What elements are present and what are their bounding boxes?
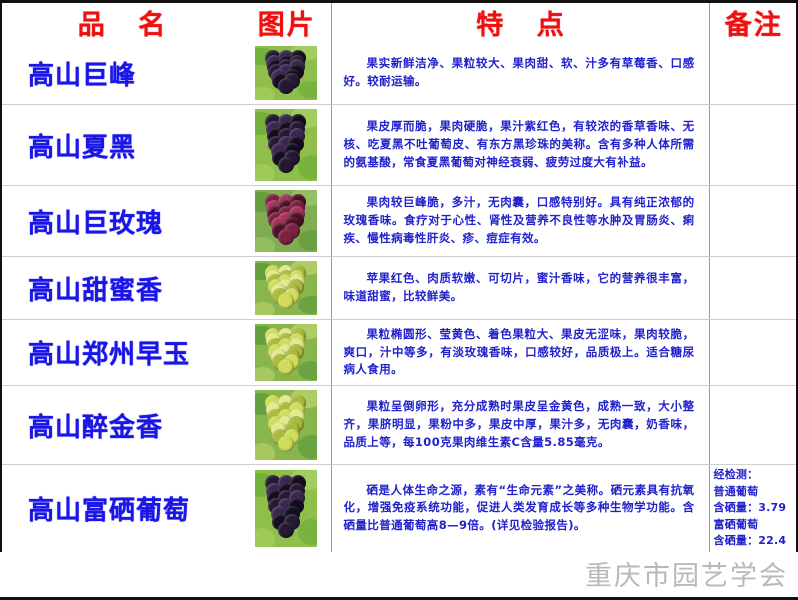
header-label-product-name: 品 名 [2, 3, 241, 42]
features-text: 果粒呈倒卵形，充分成熟时果皮呈金黄色，成熟一致，大小整齐，果脐明显，果粉中多，果… [332, 394, 709, 455]
catalog-sheet: 品 名 图片 特 点 备注 高山巨峰果实新鲜洁净、果粒较大、果肉甜、软、汁多有草… [0, 0, 798, 600]
cell-product-name: 高山甜蜜香 [1, 257, 241, 320]
header-cell-product-name: 品 名 [1, 3, 241, 42]
header-label-features: 特 点 [332, 3, 709, 42]
cell-features: 硒是人体生命之源，素有“生命元素”之美称。硒元素具有抗氧化，增强免疫系统功能，促… [331, 465, 709, 552]
cell-remarks [709, 386, 797, 465]
product-name-label: 高山巨玫瑰 [2, 203, 241, 240]
table-row: 高山巨玫瑰果肉较巨峰脆，多汁，无肉囊，口感特别好。具有纯正浓郁的玫瑰香味。食疗对… [1, 186, 797, 257]
cell-features: 果粒呈倒卵形，充分成熟时果皮呈金黄色，成熟一致，大小整齐，果脐明显，果粉中多，果… [331, 386, 709, 465]
remarks-text: 经检测： 普通葡萄 含硒量：3.79 富硒葡萄 含硒量：22.4 [710, 465, 797, 552]
features-text: 果实新鲜洁净、果粒较大、果肉甜、软、汁多有草莓香、口感好。较耐运输。 [332, 51, 709, 95]
remarks-text [710, 351, 797, 355]
header-label-remarks: 备注 [710, 3, 797, 42]
grape-image [255, 46, 317, 100]
cell-remarks [709, 257, 797, 320]
cell-features: 果粒椭圆形、莹黄色、着色果粒大、果皮无涩味，果肉较脆，爽口，汁中等多，有淡玫瑰香… [331, 320, 709, 386]
grape-image [255, 261, 317, 315]
cell-picture [241, 186, 331, 257]
table-row: 高山甜蜜香苹果红色、肉质软嫩、可切片，蜜汁香味，它的营养很丰富，味道甜蜜，比较鲜… [1, 257, 797, 320]
cell-product-name: 高山巨峰 [1, 42, 241, 105]
table-header-row: 品 名 图片 特 点 备注 [1, 3, 797, 42]
cell-picture [241, 105, 331, 186]
cell-remarks [709, 320, 797, 386]
cell-picture [241, 386, 331, 465]
product-name-label: 高山巨峰 [2, 55, 241, 92]
cell-product-name: 高山巨玫瑰 [1, 186, 241, 257]
remarks-text [710, 143, 797, 147]
product-name-label: 高山郑州早玉 [2, 334, 241, 371]
grape-image [255, 390, 317, 460]
grape-image [255, 190, 317, 252]
cell-remarks [709, 105, 797, 186]
grape-variety-table: 品 名 图片 特 点 备注 高山巨峰果实新鲜洁净、果粒较大、果肉甜、软、汁多有草… [0, 3, 798, 552]
header-label-picture: 图片 [241, 3, 331, 42]
cell-product-name: 高山醉金香 [1, 386, 241, 465]
remarks-text [710, 219, 797, 223]
table-row: 高山醉金香果粒呈倒卵形，充分成熟时果皮呈金黄色，成熟一致，大小整齐，果脐明显，果… [1, 386, 797, 465]
product-name-label: 高山甜蜜香 [2, 270, 241, 307]
cell-features: 果肉较巨峰脆，多汁，无肉囊，口感特别好。具有纯正浓郁的玫瑰香味。食疗对于心性、肾… [331, 186, 709, 257]
cell-picture [241, 320, 331, 386]
cell-product-name: 高山富硒葡萄 [1, 465, 241, 552]
cell-features: 苹果红色、肉质软嫩、可切片，蜜汁香味，它的营养很丰富，味道甜蜜，比较鲜美。 [331, 257, 709, 320]
features-text: 果皮厚而脆，果肉硬脆，果汁紫红色，有较浓的香草香味、无核、吃夏黑不吐葡萄皮、有东… [332, 114, 709, 175]
cell-product-name: 高山郑州早玉 [1, 320, 241, 386]
features-text: 果肉较巨峰脆，多汁，无肉囊，口感特别好。具有纯正浓郁的玫瑰香味。食疗对于心性、肾… [332, 190, 709, 251]
watermark-text: 重庆市园艺学会 [585, 554, 788, 593]
header-cell-features: 特 点 [331, 3, 709, 42]
header-cell-picture: 图片 [241, 3, 331, 42]
grape-image [255, 470, 317, 547]
features-text: 硒是人体生命之源，素有“生命元素”之美称。硒元素具有抗氧化，增强免疫系统功能，促… [332, 478, 709, 539]
remarks-text [710, 71, 797, 75]
grape-image [255, 324, 317, 381]
features-text: 果粒椭圆形、莹黄色、着色果粒大、果皮无涩味，果肉较脆，爽口，汁中等多，有淡玫瑰香… [332, 322, 709, 383]
cell-product-name: 高山夏黑 [1, 105, 241, 186]
table-body: 高山巨峰果实新鲜洁净、果粒较大、果肉甜、软、汁多有草莓香、口感好。较耐运输。高山… [1, 42, 797, 552]
product-name-label: 高山富硒葡萄 [2, 490, 241, 527]
product-name-label: 高山醉金香 [2, 407, 241, 444]
cell-picture [241, 465, 331, 552]
table-row: 高山富硒葡萄硒是人体生命之源，素有“生命元素”之美称。硒元素具有抗氧化，增强免疫… [1, 465, 797, 552]
cell-remarks [709, 42, 797, 105]
cell-features: 果皮厚而脆，果肉硬脆，果汁紫红色，有较浓的香草香味、无核、吃夏黑不吐葡萄皮、有东… [331, 105, 709, 186]
cell-remarks [709, 186, 797, 257]
cell-picture [241, 42, 331, 105]
remarks-text [710, 423, 797, 427]
product-name-label: 高山夏黑 [2, 127, 241, 164]
header-cell-remarks: 备注 [709, 3, 797, 42]
features-text: 苹果红色、肉质软嫩、可切片，蜜汁香味，它的营养很丰富，味道甜蜜，比较鲜美。 [332, 266, 709, 310]
table-row: 高山夏黑果皮厚而脆，果肉硬脆，果汁紫红色，有较浓的香草香味、无核、吃夏黑不吐葡萄… [1, 105, 797, 186]
cell-features: 果实新鲜洁净、果粒较大、果肉甜、软、汁多有草莓香、口感好。较耐运输。 [331, 42, 709, 105]
grape-image [255, 109, 317, 181]
remarks-text [710, 286, 797, 290]
table-row: 高山巨峰果实新鲜洁净、果粒较大、果肉甜、软、汁多有草莓香、口感好。较耐运输。 [1, 42, 797, 105]
table-row: 高山郑州早玉果粒椭圆形、莹黄色、着色果粒大、果皮无涩味，果肉较脆，爽口，汁中等多… [1, 320, 797, 386]
cell-picture [241, 257, 331, 320]
cell-remarks: 经检测： 普通葡萄 含硒量：3.79 富硒葡萄 含硒量：22.4 [709, 465, 797, 552]
